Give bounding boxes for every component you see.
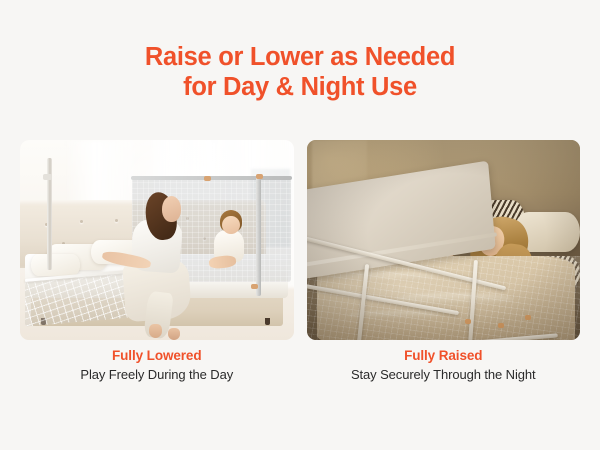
caption-title-lowered: Fully Lowered bbox=[20, 347, 294, 364]
headline-line-2: for Day & Night Use bbox=[0, 72, 600, 102]
panel-captions: Fully Lowered Play Freely During the Day… bbox=[20, 347, 580, 384]
panel-fully-lowered bbox=[20, 140, 294, 340]
headline-line-1: Raise or Lower as Needed bbox=[0, 42, 600, 72]
rail-joint-accent bbox=[204, 176, 211, 181]
caption-subtitle-lowered: Play Freely During the Day bbox=[20, 366, 294, 384]
woman-head bbox=[162, 196, 181, 222]
bed-rail-vertical-post bbox=[256, 176, 261, 296]
bed-rail-post-bracket bbox=[43, 174, 52, 180]
photo-fully-lowered bbox=[20, 140, 294, 340]
panel-fully-raised bbox=[307, 140, 581, 340]
comparison-panels bbox=[20, 140, 580, 340]
caption-fully-raised: Fully Raised Stay Securely Through the N… bbox=[307, 347, 581, 384]
page-title: Raise or Lower as Needed for Day & Night… bbox=[0, 42, 600, 102]
photo-fully-raised bbox=[307, 140, 581, 340]
caption-title-raised: Fully Raised bbox=[307, 347, 581, 364]
promo-graphic-root: { "theme": { "background_color": "#f7f6f… bbox=[0, 0, 600, 450]
pillow bbox=[31, 254, 80, 276]
bed-rail-raised-top-bar bbox=[131, 176, 292, 180]
rail-joint-accent bbox=[256, 174, 263, 179]
night-vignette bbox=[307, 140, 581, 340]
rail-joint-accent bbox=[251, 284, 258, 289]
woman-foot bbox=[149, 324, 163, 338]
caption-subtitle-raised: Stay Securely Through the Night bbox=[307, 366, 581, 384]
woman-foot bbox=[168, 328, 180, 340]
caption-fully-lowered: Fully Lowered Play Freely During the Day bbox=[20, 347, 294, 384]
